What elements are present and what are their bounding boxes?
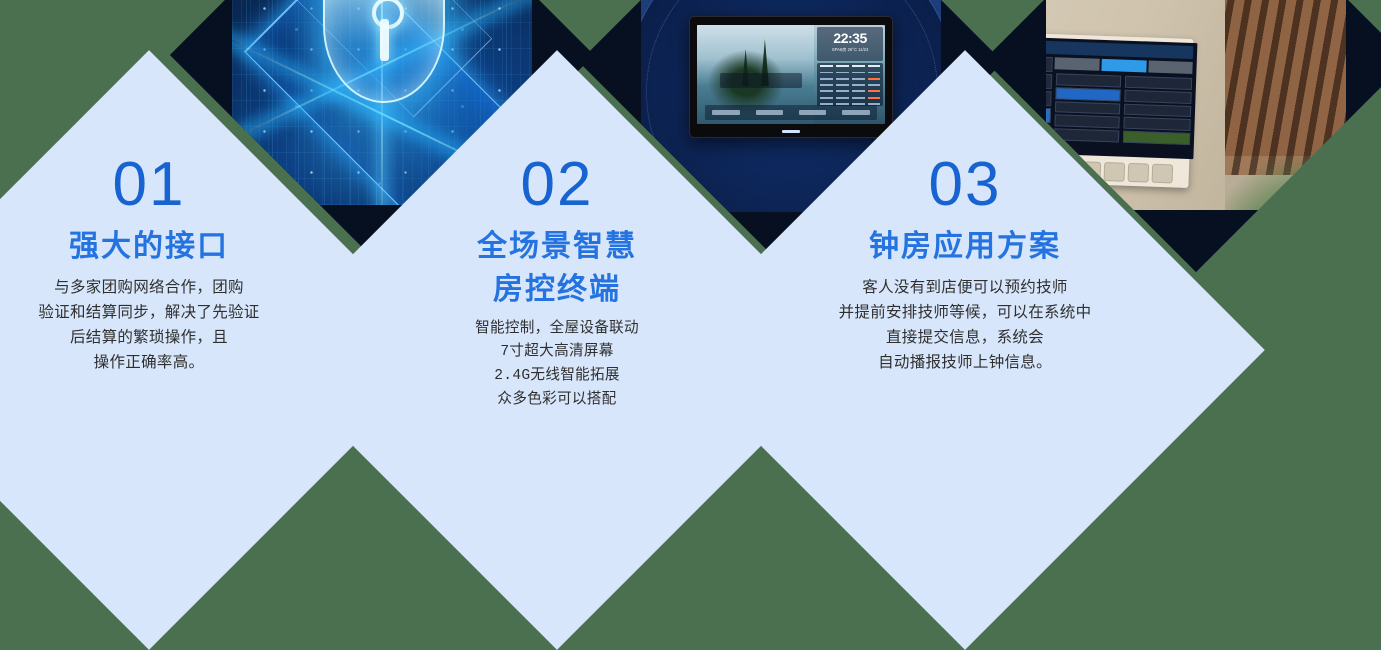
- tablet-date: 11/24: [858, 47, 868, 52]
- panel-screen: [1046, 37, 1198, 159]
- tablet-clock-widget: 22:35 SPA6房 26°C 11/24: [817, 27, 883, 61]
- panel-list-left: [1054, 73, 1122, 143]
- panel-list-item-selected: [1056, 87, 1122, 101]
- card-2-description: 智能控制，全屋设备联动 7寸超大高清屏幕 2.4G无线智能拓展 众多色彩可以搭配: [475, 318, 639, 413]
- panel-list-item: [1054, 129, 1120, 143]
- panel-button: [1128, 163, 1150, 183]
- card-2-title-line1: 全场景智慧: [477, 230, 637, 265]
- card-1-description: 与多家团购网络合作，团购 验证和结算同步，解决了先验证 后结算的繁琐操作，且 操…: [38, 275, 259, 375]
- tablet-footer-logo: [690, 127, 892, 136]
- toolbar-button: [799, 110, 827, 115]
- panel-list-item: [1125, 76, 1193, 90]
- card-3-content: 03 钟房应用方案 客人没有到店便可以预约技师 并提前安排技师等候，可以在系统中…: [753, 138, 1177, 562]
- panel-tab: [1055, 57, 1100, 71]
- panel-list-item-highlight: [1123, 131, 1191, 145]
- panel-list-right: [1123, 76, 1193, 146]
- diamond-feature-layout: CSUBO 22:35 SPA6房 26°C 11/24: [0, 0, 1381, 603]
- table-header-row: [820, 65, 881, 69]
- panel-side-item: [1046, 56, 1054, 72]
- tablet-brand-label: CSUBO: [706, 27, 726, 32]
- card-1-title: 强大的接口: [69, 230, 229, 265]
- card-1-number: 01: [113, 154, 186, 216]
- panel-list-item: [1055, 115, 1121, 129]
- panel-side-item: [1046, 90, 1052, 106]
- card-3-title: 钟房应用方案: [869, 230, 1061, 265]
- toolbar-button: [756, 110, 784, 115]
- panel-side-item: [1046, 73, 1053, 89]
- panel-list-item: [1124, 117, 1192, 131]
- tablet-bottom-toolbar: [705, 105, 878, 120]
- panel-tabs: [1055, 57, 1194, 75]
- card-2-number: 02: [521, 154, 594, 216]
- panel-list-item: [1125, 89, 1193, 103]
- panel-list-item: [1055, 101, 1121, 115]
- panel-tab-active: [1102, 58, 1147, 72]
- tablet-temperature: 26°C: [848, 47, 857, 52]
- panel-side-menu: [1046, 56, 1054, 140]
- table-row: [820, 97, 881, 101]
- panel-button: [1152, 164, 1174, 184]
- table-row: [820, 84, 881, 88]
- tablet-media-controls: [720, 73, 803, 89]
- panel-list-item: [1124, 103, 1192, 117]
- card-3-number: 03: [929, 154, 1002, 216]
- panel-tab: [1148, 60, 1193, 74]
- tablet-time: 22:35: [817, 31, 883, 45]
- toolbar-button: [842, 110, 870, 115]
- panel-list-item: [1056, 73, 1122, 87]
- room-plant: [1225, 137, 1346, 210]
- tablet-room-temp-date: SPA6房 26°C 11/24: [817, 47, 883, 53]
- tablet-room: SPA6房: [832, 47, 847, 52]
- card-2-title-line2: 房控终端: [493, 273, 621, 308]
- table-row: [820, 90, 881, 94]
- toolbar-button: [712, 110, 740, 115]
- panel-side-item-active: [1046, 107, 1052, 123]
- table-row: [820, 78, 881, 82]
- table-row: [820, 72, 881, 76]
- tablet-device: CSUBO 22:35 SPA6房 26°C 11/24: [689, 16, 893, 138]
- tablet-service-table: [817, 63, 883, 107]
- card-3-description: 客人没有到店便可以预约技师 并提前安排技师等候，可以在系统中 直接提交信息，系统…: [839, 275, 1092, 375]
- panel-button: [1104, 162, 1126, 182]
- tablet-screen: CSUBO 22:35 SPA6房 26°C 11/24: [697, 25, 885, 124]
